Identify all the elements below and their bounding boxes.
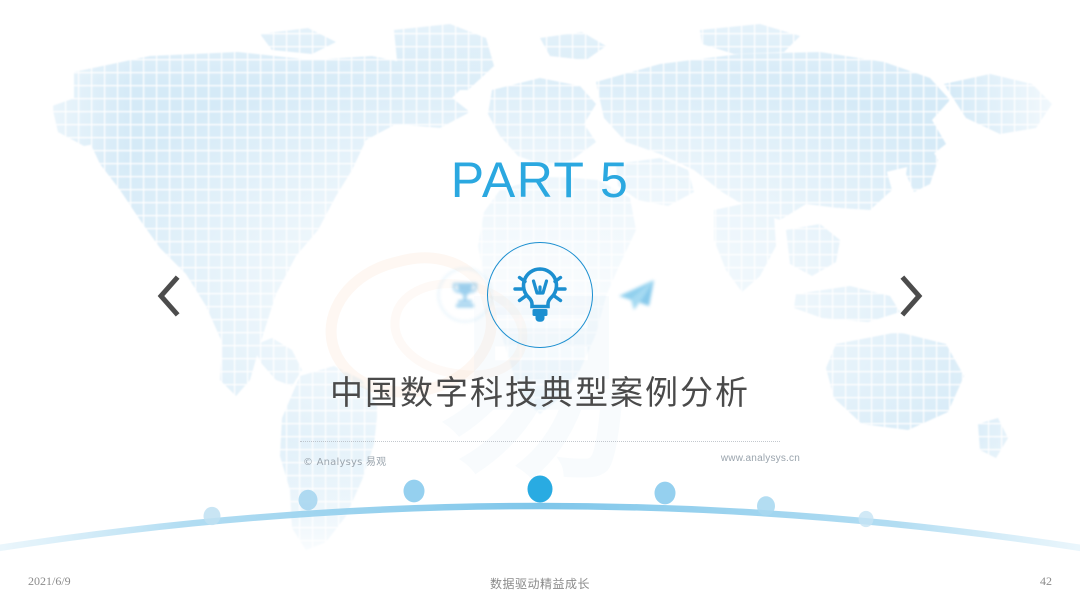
progress-dot[interactable]: [204, 507, 221, 525]
prev-slide-button[interactable]: [146, 268, 192, 324]
next-slide-button[interactable]: [888, 268, 934, 324]
progress-arc-svg: [0, 455, 1080, 565]
progress-dot[interactable]: [299, 490, 318, 511]
footer-tagline: 数据驱动精益成长: [0, 575, 1080, 592]
progress-dots: [204, 476, 874, 528]
progress-dot[interactable]: [655, 482, 676, 505]
slide-footer: 2021/6/9 数据驱动精益成长 42: [0, 564, 1080, 608]
slide-content: PART 5: [0, 0, 1080, 608]
chevron-right-icon: [896, 273, 926, 319]
arc-line: [0, 506, 1080, 551]
page-title: PART 5: [0, 152, 1080, 208]
trophy-icon: [438, 268, 492, 322]
slide-canvas: 易 PART 5: [0, 0, 1080, 608]
progress-dot[interactable]: [404, 480, 425, 503]
progress-dot-active[interactable]: [528, 476, 553, 503]
paper-plane-icon: [606, 265, 666, 325]
progress-arc: [0, 455, 1080, 565]
lightbulb-glyph: [504, 259, 576, 331]
trophy-icon-ring: [438, 268, 492, 322]
section-title: 中国数字科技典型案例分析: [0, 372, 1080, 414]
progress-dot[interactable]: [859, 511, 874, 527]
lightbulb-icon: [487, 242, 593, 348]
website-url: www.analysys.cn: [721, 453, 800, 464]
divider: [300, 441, 780, 442]
progress-dot[interactable]: [757, 496, 775, 515]
copyright-credit: © Analysys 易观: [303, 453, 386, 468]
chevron-left-icon: [154, 273, 184, 319]
footer-page-number: 42: [1040, 574, 1052, 589]
